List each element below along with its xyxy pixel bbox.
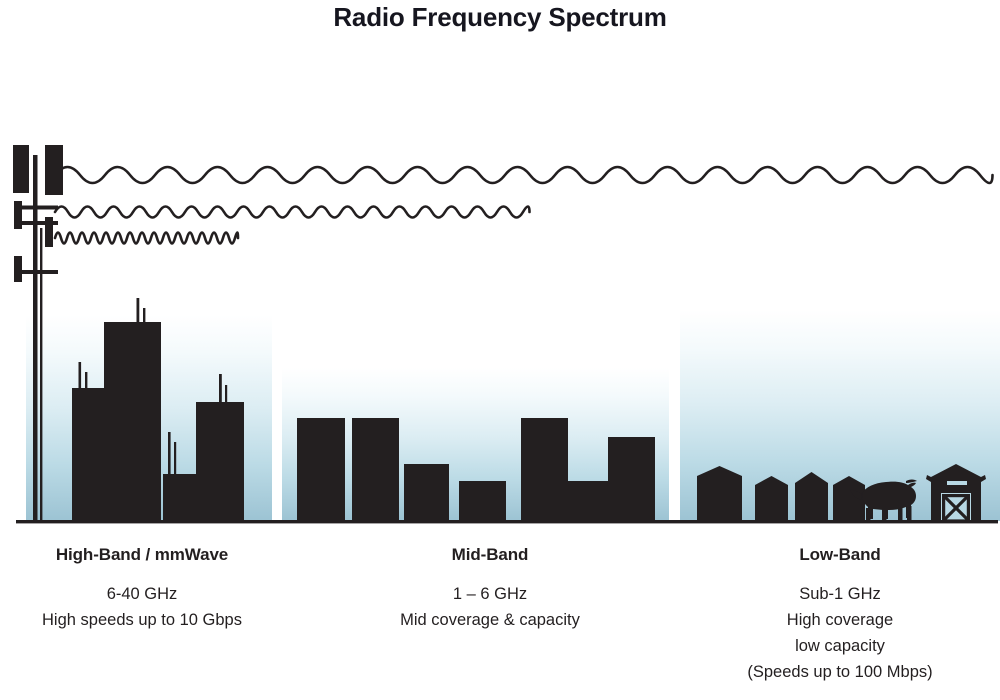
- band-detail-line: Mid coverage & capacity: [340, 607, 640, 633]
- infographic-root: Radio Frequency Spectrum: [0, 0, 1000, 700]
- band-title: Low-Band: [680, 545, 1000, 565]
- radio-waves: [55, 167, 993, 244]
- skyscraper: [104, 322, 161, 521]
- antenna-panel: [14, 201, 22, 229]
- band-detail-line: low capacity: [680, 633, 1000, 659]
- antenna-panel: [14, 256, 22, 282]
- band-detail-line: 1 – 6 GHz: [340, 581, 640, 607]
- tower-crossbar: [22, 270, 58, 274]
- building-spire: [137, 298, 140, 324]
- band-detail-line: Sub-1 GHz: [680, 581, 1000, 607]
- tower-crossbar: [22, 206, 58, 210]
- band-detail-line: 6-40 GHz: [0, 581, 284, 607]
- band-high-band: High-Band / mmWave 6-40 GHz High speeds …: [0, 545, 284, 633]
- building-spire: [219, 374, 222, 404]
- building: [608, 437, 655, 521]
- building-spire: [174, 442, 176, 476]
- building: [568, 481, 608, 521]
- band-detail-line: (Speeds up to 100 Mbps): [680, 659, 1000, 685]
- low-band-wave: [55, 167, 993, 183]
- building-spire: [225, 385, 227, 404]
- ground-line: [16, 520, 998, 523]
- building: [521, 418, 568, 521]
- tower-mast: [33, 155, 38, 521]
- high-band-wave: [55, 233, 238, 244]
- scene-svg: [0, 0, 1000, 535]
- barn-hayloft-vent: [947, 481, 967, 485]
- building: [404, 464, 449, 521]
- skyscraper: [196, 402, 244, 521]
- building-spire: [143, 308, 145, 324]
- spectrum-scene: [0, 0, 1000, 535]
- building: [352, 418, 399, 521]
- band-low-band: Low-Band Sub-1 GHz High coverage low cap…: [680, 545, 1000, 685]
- antenna-panel: [45, 217, 53, 247]
- building: [297, 418, 345, 521]
- antenna-panel: [13, 145, 29, 193]
- antenna-panel: [45, 145, 63, 195]
- band-mid-band: Mid-Band 1 – 6 GHz Mid coverage & capaci…: [340, 545, 640, 633]
- building-spire: [85, 372, 87, 390]
- band-title: Mid-Band: [340, 545, 640, 565]
- band-labels: High-Band / mmWave 6-40 GHz High speeds …: [0, 545, 1000, 700]
- band-detail-line: High coverage: [680, 607, 1000, 633]
- building-spire: [79, 362, 82, 390]
- farm-house: [697, 466, 742, 521]
- mid-band-wave: [55, 207, 530, 218]
- band-title: High-Band / mmWave: [0, 545, 284, 565]
- building: [459, 481, 506, 521]
- band-detail-line: High speeds up to 10 Gbps: [0, 607, 284, 633]
- building-spire: [168, 432, 171, 476]
- farm-house: [755, 476, 788, 521]
